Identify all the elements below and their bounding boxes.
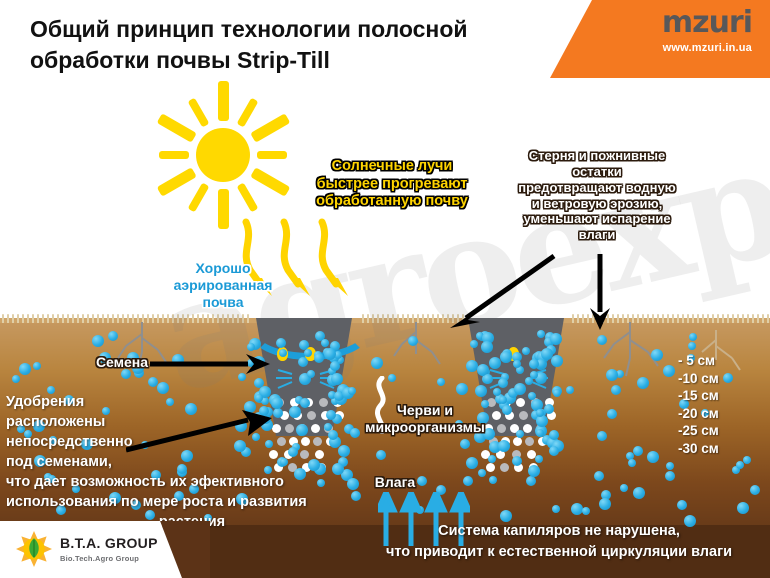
water-droplet: [388, 374, 396, 382]
grass-blade: [207, 314, 209, 323]
grass-blade: [742, 314, 744, 323]
grass-blade: [212, 314, 214, 323]
water-droplet: [665, 471, 675, 481]
callout-aerated-line-2: аэрированная: [148, 277, 298, 294]
depth-label-5: - 5 см: [678, 352, 764, 370]
grass-blade: [12, 314, 14, 323]
callout-sun-rays-line-1: Солнечные лучи: [292, 158, 492, 176]
callout-fertilizer-line-2: расположены: [6, 412, 378, 432]
grass-blade: [682, 314, 684, 323]
grass-blade: [7, 314, 9, 323]
grass-blade: [32, 314, 34, 323]
water-droplet: [108, 331, 118, 341]
water-droplet: [330, 361, 340, 371]
water-droplet: [582, 507, 590, 515]
grass-blade: [747, 314, 749, 323]
grass-blade: [687, 314, 689, 323]
grass-blade: [672, 314, 674, 323]
grass-blade: [67, 314, 69, 323]
grass-blade: [247, 314, 249, 323]
callout-residue-line-6: влаги: [492, 227, 702, 243]
fertilizer-pellet-right: [486, 463, 495, 472]
sun-ray-4: [257, 151, 287, 159]
grass-blade: [767, 314, 769, 323]
grass-blade: [702, 314, 704, 323]
water-droplet: [460, 439, 470, 449]
fertilizer-pellet-right: [523, 424, 532, 433]
water-droplet: [666, 462, 674, 470]
seeds-pointer-arrow: [150, 352, 270, 376]
callout-residue-line-3: предотвращают водную: [492, 180, 702, 196]
grass-blade: [722, 314, 724, 323]
grass-blade: [232, 314, 234, 323]
grass-blade: [582, 314, 584, 323]
mzuri-logo: mzuri www.mzuri.in.ua: [592, 8, 752, 54]
water-droplet: [371, 357, 383, 369]
grass-blade: [577, 314, 579, 323]
sun-ray-7: [218, 189, 229, 229]
callout-sun-rays-line-2: быстрее прогревают: [292, 176, 492, 194]
grass-blade: [727, 314, 729, 323]
water-droplet: [324, 348, 336, 360]
grass-blade: [97, 314, 99, 323]
grass-blade: [57, 314, 59, 323]
fertilizer-pellet-right: [519, 411, 528, 420]
water-droplet: [663, 365, 675, 377]
water-droplet: [498, 378, 508, 388]
fertilizer-pellet-right: [516, 398, 525, 407]
callout-sun-rays: Солнечные лучи быстрее прогревают обрабо…: [292, 158, 492, 211]
grass-blade: [242, 314, 244, 323]
depth-label-25: -25 см: [678, 422, 764, 440]
grass-blade: [72, 314, 74, 323]
water-droplet: [736, 461, 744, 469]
fertilizer-pellet-right: [513, 437, 522, 446]
callout-residue-line-2: остатки: [492, 164, 702, 180]
grass-blade: [87, 314, 89, 323]
grass-blade: [237, 314, 239, 323]
grass-blade: [2, 314, 4, 323]
grass-blade: [192, 314, 194, 323]
bta-sun-leaf-icon: [16, 531, 52, 567]
water-droplet: [526, 476, 536, 486]
callout-capillary: Система капиляров не нарушена, что приво…: [350, 521, 768, 563]
grass-blade: [102, 314, 104, 323]
grass-stubble: [0, 305, 770, 323]
water-droplet: [553, 389, 561, 397]
mzuri-wordmark: mzuri: [592, 8, 752, 38]
callout-fertilizer-line-4: под семенами,: [6, 452, 378, 472]
depth-label-10: -10 см: [678, 370, 764, 388]
grass-blade: [737, 314, 739, 323]
water-droplet: [279, 349, 287, 357]
sun-ray-10: [159, 151, 189, 159]
callout-sun-rays-line-3: обработанную почву: [292, 193, 492, 211]
grass-blade: [197, 314, 199, 323]
callout-fertilizer-line-1: Удобрения: [6, 392, 378, 412]
water-droplet: [535, 455, 543, 463]
depth-label-15: -15 см: [678, 387, 764, 405]
callout-aerated-line-3: почва: [148, 294, 298, 311]
grass-blade: [77, 314, 79, 323]
water-droplet: [528, 465, 540, 477]
water-droplet: [549, 430, 559, 440]
plant-root-2: [382, 322, 452, 382]
water-droplet: [478, 469, 486, 477]
grass-blade: [677, 314, 679, 323]
label-seeds: Семена: [82, 354, 162, 371]
water-droplet: [516, 430, 524, 438]
sun-ray-1: [218, 81, 229, 121]
grass-blade: [372, 314, 374, 323]
fertilizer-pellet-right: [500, 463, 509, 472]
water-droplet: [750, 485, 760, 495]
grass-blade: [712, 314, 714, 323]
grass-blade: [717, 314, 719, 323]
water-droplet: [620, 484, 628, 492]
infographic-canvas: agroexpo.kz mzuri www.mzuri.in.ua Общий …: [0, 0, 770, 578]
callout-fertilizer: Удобрения расположены непосредственно по…: [6, 392, 378, 532]
water-droplet: [522, 347, 530, 355]
water-droplet: [651, 349, 663, 361]
water-droplet: [544, 404, 554, 414]
water-droplet: [599, 498, 611, 510]
callout-aerated-soil: Хорошо аэрированная почва: [148, 260, 298, 311]
grass-blade: [697, 314, 699, 323]
water-droplet: [307, 370, 315, 378]
depth-label-30: -30 см: [678, 440, 764, 458]
depth-scale: - 5 см -10 см -15 см -20 см -25 см -30 с…: [678, 352, 764, 457]
callout-residue-line-5: уменьшают испарение: [492, 211, 702, 227]
water-droplet: [299, 340, 309, 350]
grass-blade: [762, 314, 764, 323]
callout-capillary-line-2: что приводит к естественной циркуляции в…: [350, 542, 768, 563]
grass-blade: [47, 314, 49, 323]
callout-fertilizer-line-6: использования по мере роста и развития: [6, 492, 378, 512]
water-droplet: [437, 378, 445, 386]
water-droplet: [513, 360, 521, 368]
callout-fertilizer-line-3: непосредственно: [6, 432, 378, 452]
grass-blade: [732, 314, 734, 323]
water-droplet: [466, 457, 478, 469]
sun-disc: [196, 128, 250, 182]
water-droplet: [498, 440, 510, 452]
grass-blade: [572, 314, 574, 323]
grass-blade: [37, 314, 39, 323]
grass-blade: [62, 314, 64, 323]
callout-residue-line-4: и ветровую эрозию,: [492, 196, 702, 212]
callout-residue-line-1: Стерня и пожнивные: [492, 148, 702, 164]
grass-blade: [757, 314, 759, 323]
grass-blade: [17, 314, 19, 323]
grass-blade: [52, 314, 54, 323]
grass-blade: [187, 314, 189, 323]
water-droplet: [92, 335, 104, 347]
grass-blade: [692, 314, 694, 323]
water-droplet: [677, 500, 687, 510]
grass-blade: [377, 314, 379, 323]
water-droplet: [493, 388, 501, 396]
grass-blade: [92, 314, 94, 323]
mzuri-url: www.mzuri.in.ua: [592, 42, 752, 54]
callout-capillary-line-1: Система капиляров не нарушена,: [350, 521, 768, 542]
grass-blade: [707, 314, 709, 323]
water-droplet: [552, 505, 560, 513]
water-droplet: [536, 409, 544, 417]
page-title: Общий принцип технологии полосной обрабо…: [30, 14, 590, 76]
water-droplet: [488, 455, 496, 463]
bta-tagline: Bio.Tech.Agro Group: [60, 554, 139, 563]
water-droplet: [298, 357, 308, 367]
water-droplet: [606, 369, 618, 381]
callout-aerated-line-1: Хорошо: [148, 260, 298, 277]
callout-fertilizer-line-5: что дает возможность их эфективного: [6, 472, 378, 492]
water-droplet: [633, 446, 643, 456]
bta-name: B.T.A. GROUP: [60, 535, 158, 551]
grass-blade: [227, 314, 229, 323]
grass-blade: [752, 314, 754, 323]
water-droplet: [500, 351, 512, 363]
water-droplet: [512, 456, 522, 466]
grass-blade: [82, 314, 84, 323]
water-droplet: [321, 339, 329, 347]
grass-blade: [222, 314, 224, 323]
water-droplet: [628, 459, 636, 467]
water-droplet: [276, 338, 286, 348]
grass-blade: [42, 314, 44, 323]
grass-blade: [202, 314, 204, 323]
water-droplet: [456, 383, 468, 395]
residue-arrow-left: [450, 252, 558, 328]
water-droplet: [33, 362, 41, 370]
depth-label-20: -20 см: [678, 405, 764, 423]
grass-blade: [22, 314, 24, 323]
water-droplet: [463, 476, 473, 486]
bta-group-logo: B.T.A. GROUP Bio.Tech.Agro Group: [0, 521, 182, 578]
grass-blade: [182, 314, 184, 323]
grass-blade: [217, 314, 219, 323]
water-droplet: [688, 342, 696, 350]
grass-blade: [27, 314, 29, 323]
callout-residue: Стерня и пожнивные остатки предотвращают…: [492, 148, 702, 243]
residue-arrow-right: [586, 254, 614, 330]
